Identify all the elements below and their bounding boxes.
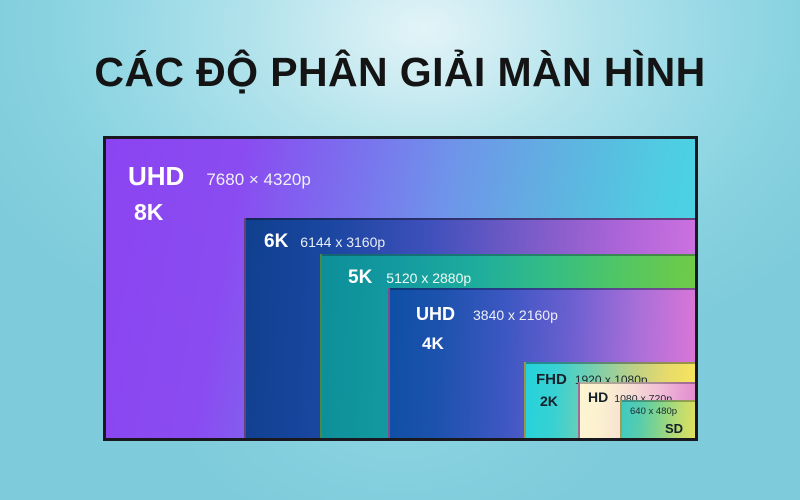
resolution-subtag-fhd: 2K [540, 394, 558, 408]
resolution-subtag-sd: SD [665, 422, 683, 435]
resolution-tag-fhd: FHD [536, 372, 567, 387]
resolution-subtag-8k: 8K [134, 201, 163, 224]
resolution-dims-8k: 7680 × 4320p [206, 171, 310, 188]
page-title: CÁC ĐỘ PHÂN GIẢI MÀN HÌNH [0, 49, 800, 96]
resolution-dims-5k: 5120 x 2880p [386, 271, 471, 285]
resolution-tag-8k: UHD [128, 163, 184, 189]
resolution-label-5k: 5K 5120 x 2880p [348, 268, 471, 287]
resolution-dims-6k: 6144 x 3160p [300, 235, 385, 249]
resolution-tag-6k: 6K [264, 232, 288, 251]
resolution-comparison-diagram: UHD 7680 × 4320p 8K 6K 6144 x 3160p 5K 5… [103, 136, 698, 441]
resolution-tag-hd: HD [588, 390, 608, 404]
resolution-dims-4k: 3840 x 2160p [473, 308, 558, 322]
resolution-label-4k: UHD 3840 x 2160p [416, 305, 558, 323]
resolution-label-6k: 6K 6144 x 3160p [264, 232, 385, 251]
resolution-label-8k: UHD 7680 × 4320p [128, 163, 311, 189]
resolution-box-sd[interactable]: 640 x 480p SD [620, 400, 695, 438]
resolution-tag-4k: UHD [416, 305, 455, 323]
resolution-dims-sd: 640 x 480p [630, 407, 677, 417]
resolution-tag-5k: 5K [348, 268, 372, 287]
resolution-subtag-4k: 4K [422, 335, 444, 352]
resolution-label-sd: 640 x 480p [630, 407, 677, 417]
